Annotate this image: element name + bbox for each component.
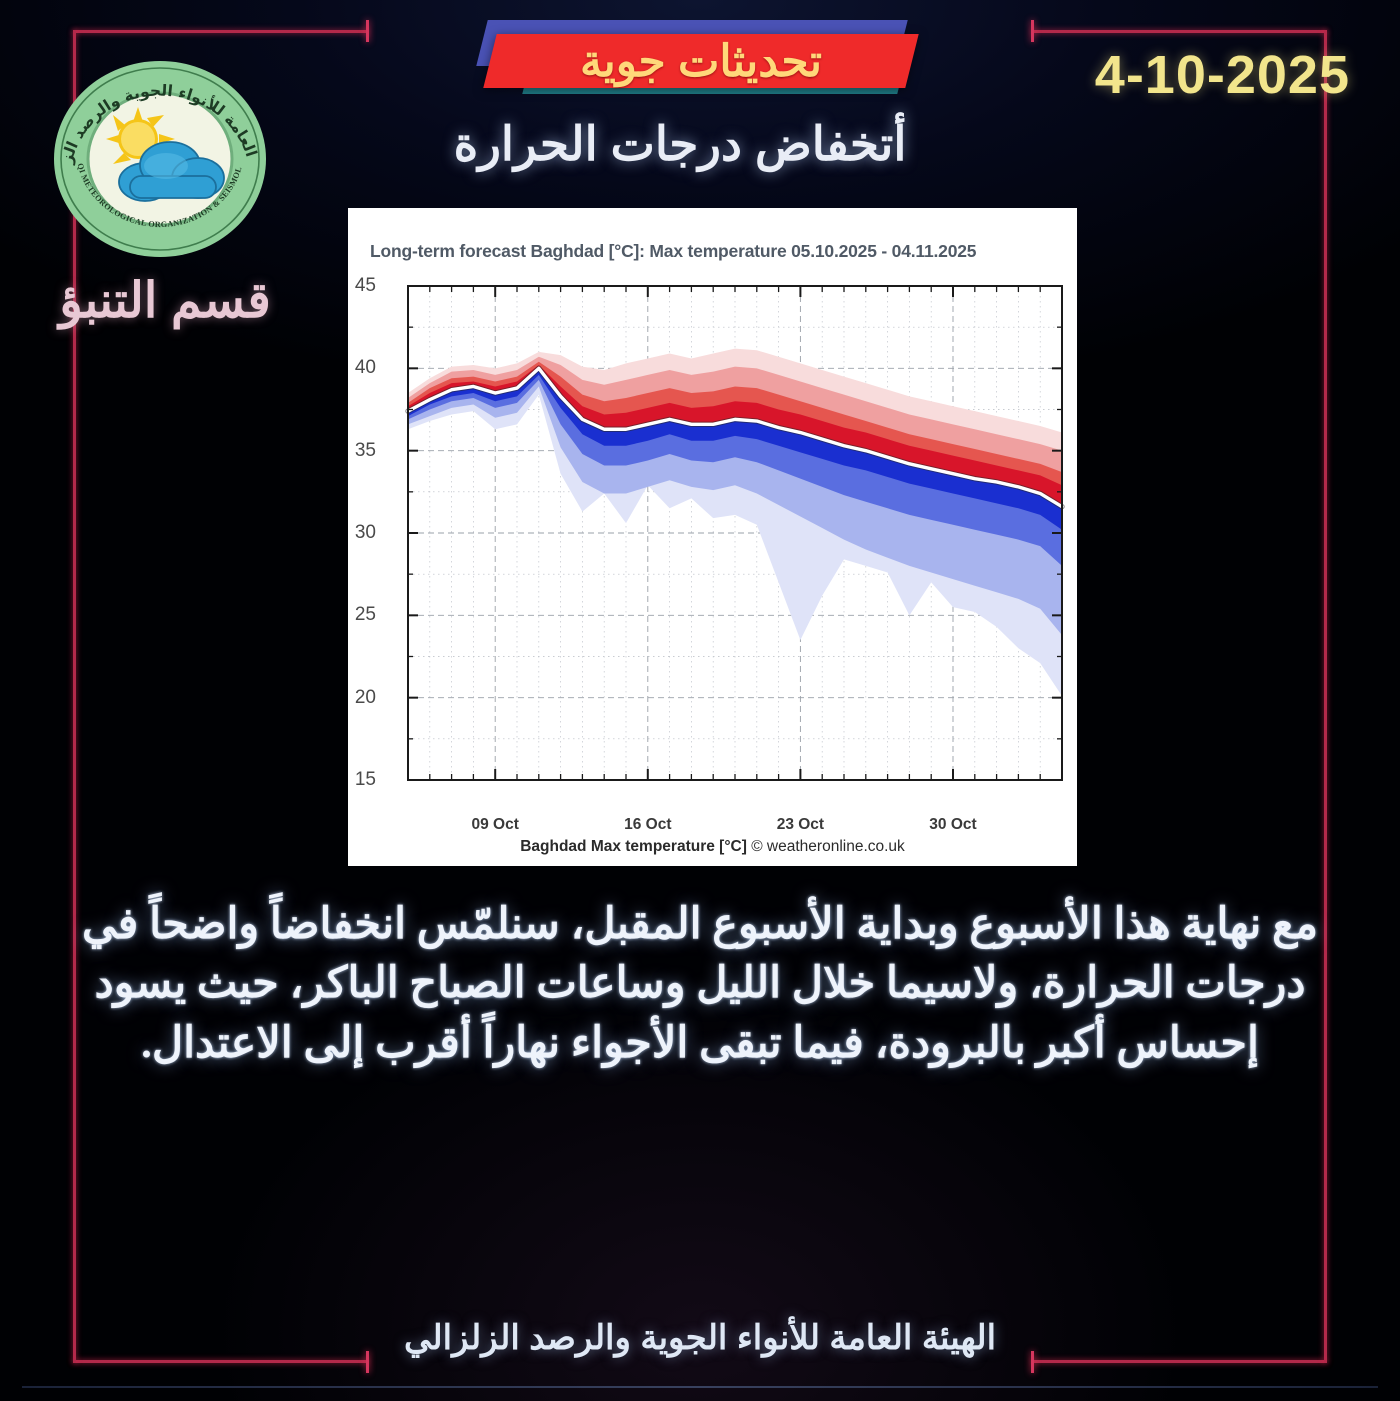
footer-band: الهيئة العامة للأنواء الجوية والرصد الزل… <box>0 1318 1400 1378</box>
department-label: قسم التنبؤ <box>0 272 330 329</box>
header-banner: تحديثات جوية <box>470 20 920 100</box>
x-tick-label: 16 Oct <box>624 816 671 834</box>
forecast-chart-card: Long-term forecast Baghdad [°C]: Max tem… <box>348 208 1077 866</box>
footer-organization: الهيئة العامة للأنواء الجوية والرصد الزل… <box>0 1318 1400 1358</box>
article-body: مع نهاية هذا الأسبوع وبداية الأسبوع المق… <box>70 895 1330 1073</box>
chart-title: Long-term forecast Baghdad [°C]: Max tem… <box>370 241 976 262</box>
footer-divider <box>22 1386 1378 1388</box>
ensemble-plume-plot <box>366 280 1066 805</box>
y-tick-label: 40 <box>355 357 376 379</box>
x-tick-label: 23 Oct <box>777 816 824 834</box>
y-tick-label: 20 <box>355 687 376 709</box>
chart-footer-label: Baghdad Max temperature [°C] <box>520 838 747 855</box>
meteorology-seal-icon: الهيئة العامة للأنواء الجوية والرصد الزل… <box>46 54 274 264</box>
chart-footer: Baghdad Max temperature [°C] © weatheron… <box>348 838 1077 856</box>
y-tick-label: 45 <box>355 275 376 297</box>
banner-title: تحديثات جوية <box>490 34 912 88</box>
x-tick-label: 30 Oct <box>929 816 976 834</box>
publication-date: 4-10-2025 <box>1095 44 1350 106</box>
y-tick-label: 15 <box>355 769 376 791</box>
y-tick-label: 30 <box>355 522 376 544</box>
y-tick-label: 35 <box>355 440 376 462</box>
x-tick-label: 09 Oct <box>471 816 518 834</box>
organization-logo: الهيئة العامة للأنواء الجوية والرصد الزل… <box>36 46 286 271</box>
chart-plot-area: 15202530354045 09 Oct16 Oct23 Oct30 Oct <box>366 280 1066 805</box>
chart-copyright: © weatheronline.co.uk <box>751 838 905 855</box>
y-tick-label: 25 <box>355 604 376 626</box>
page-subtitle: أتخفاض درجات الحرارة <box>360 116 1000 172</box>
